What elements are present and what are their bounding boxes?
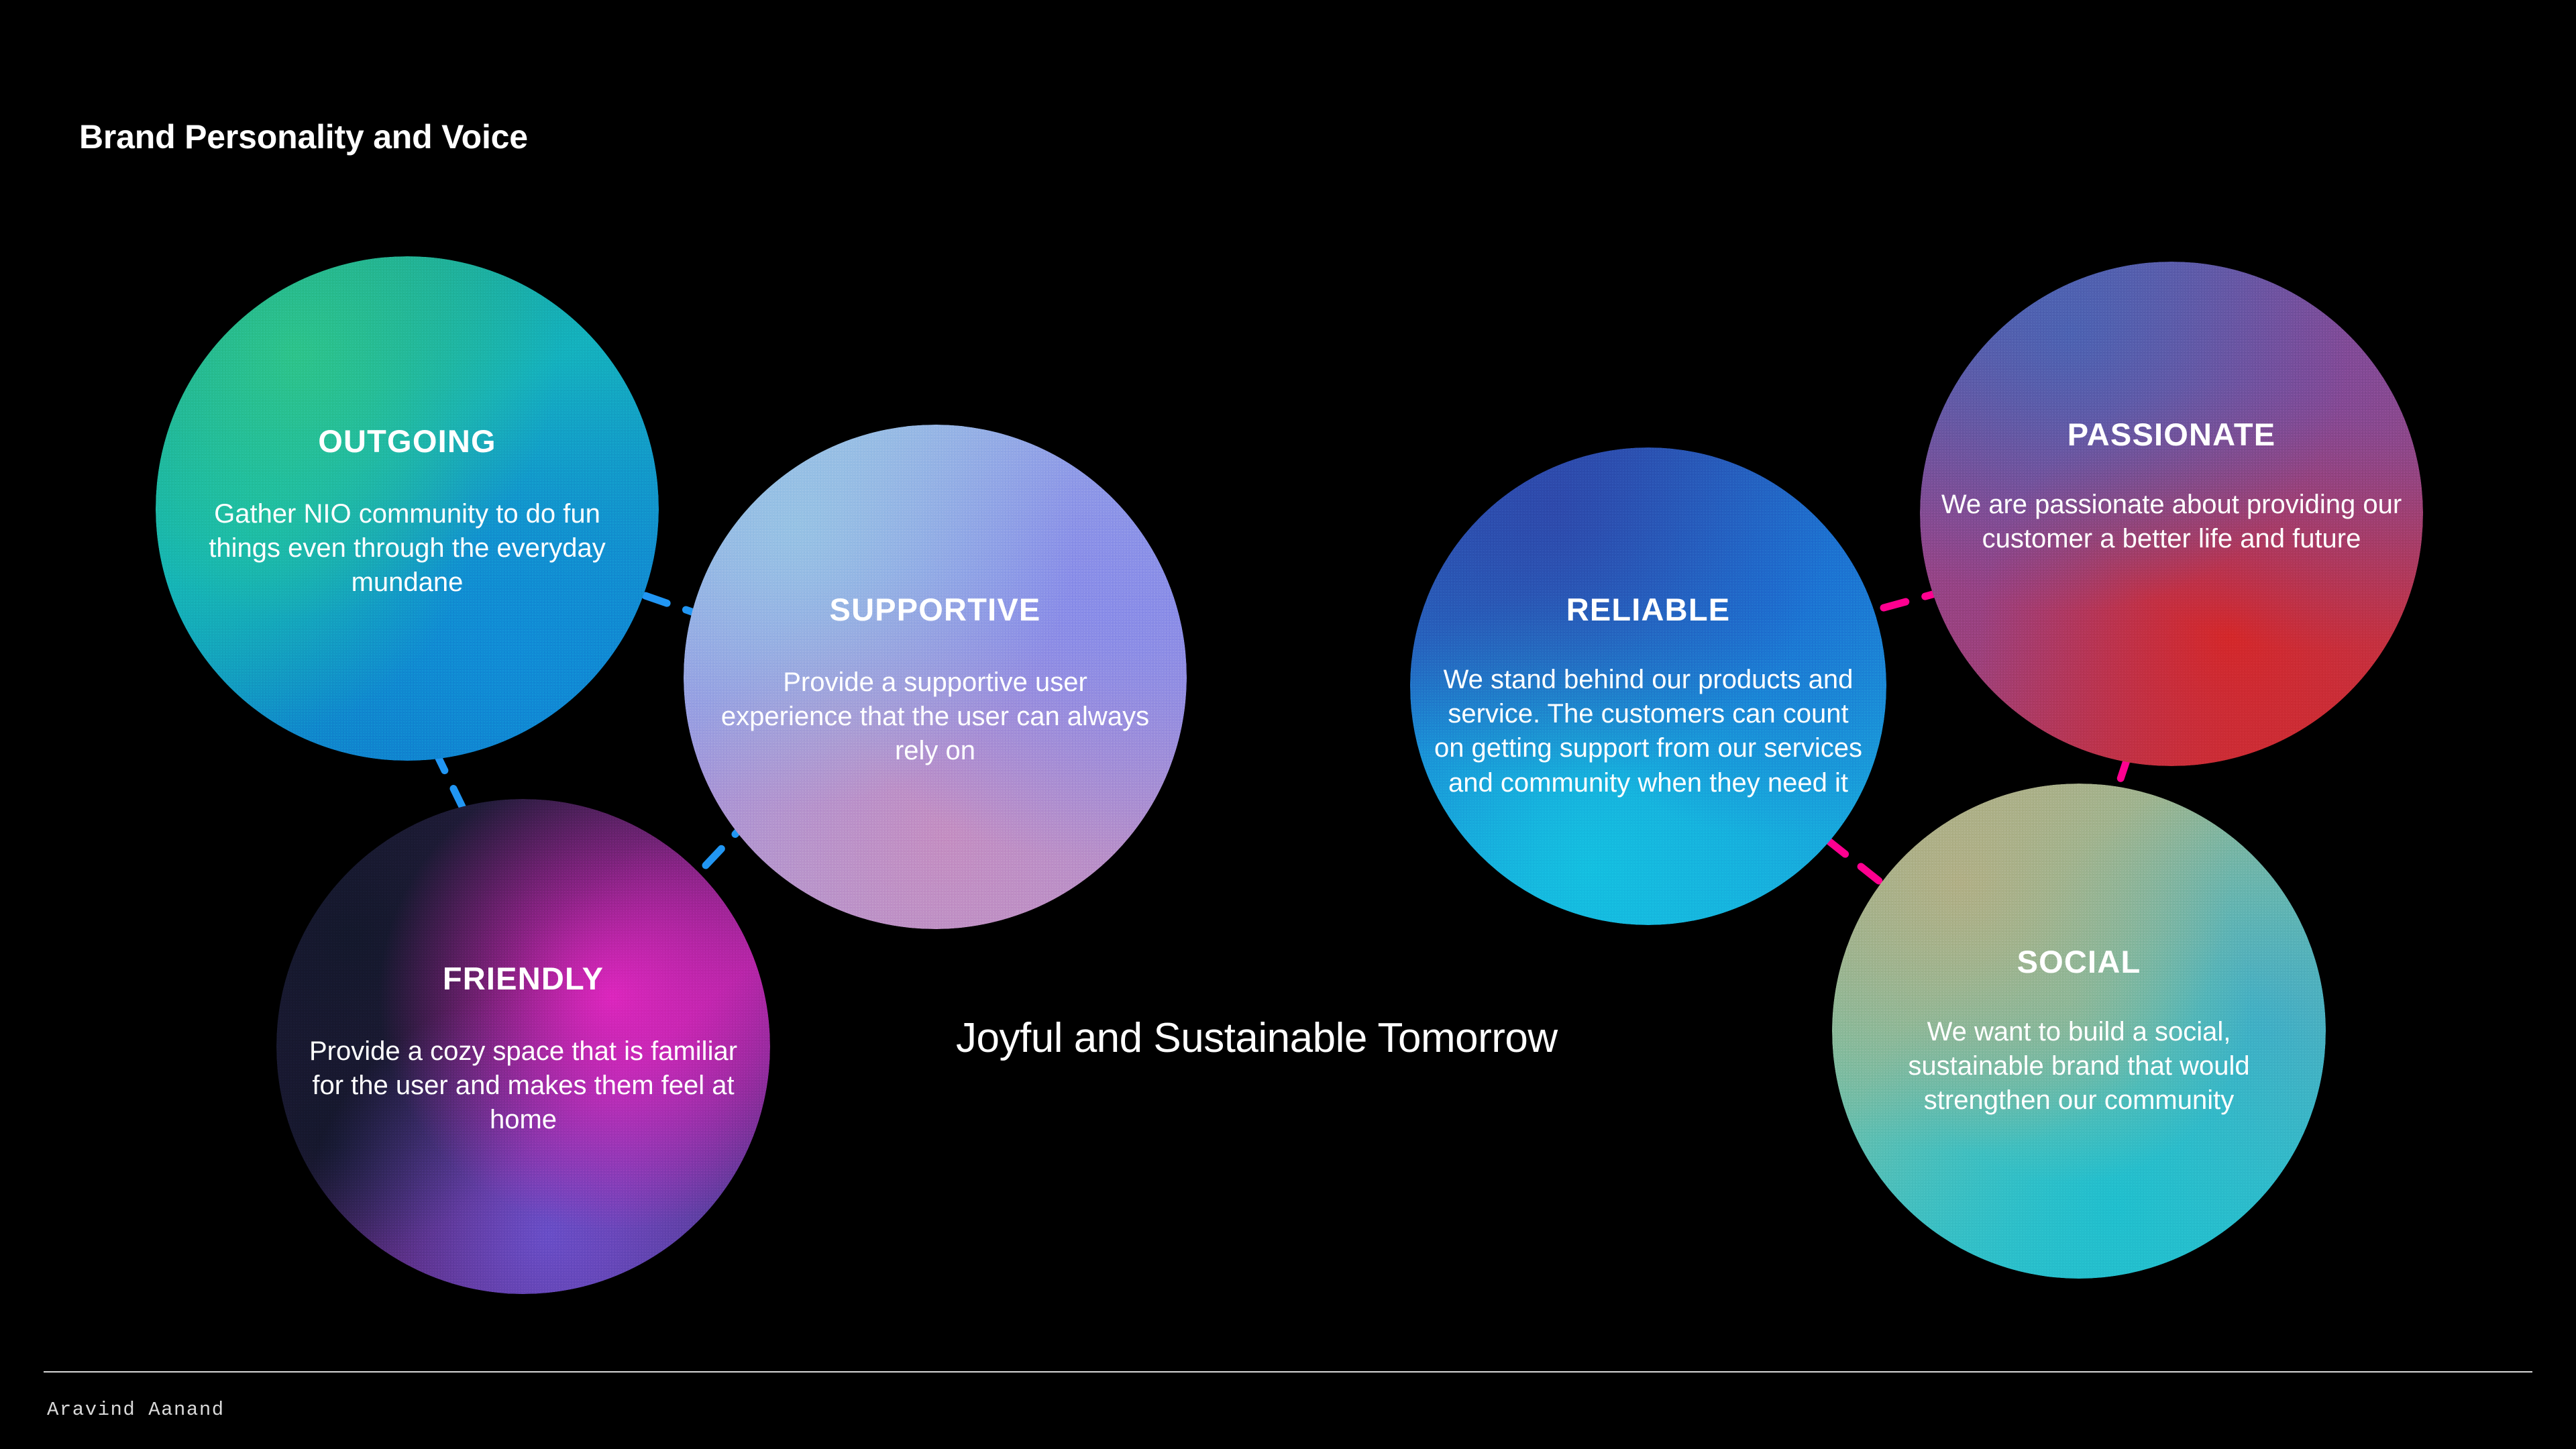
bubble-friendly-body: Provide a cozy space that is familiar fo… [295,1034,751,1138]
bubble-outgoing[interactable]: OUTGOING Gather NIO community to do fun … [156,256,659,761]
bubble-reliable-title: RELIABLE [1566,591,1731,628]
bubble-reliable[interactable]: RELIABLE We stand behind our products an… [1410,447,1886,925]
footer-author: Aravind Aanand [47,1399,225,1421]
bubble-passionate[interactable]: PASSIONATE We are passionate about provi… [1920,262,2423,766]
bubble-social-body: We want to build a social, sustainable b… [1871,1015,2287,1118]
bubble-outgoing-body: Gather NIO community to do fun things ev… [179,497,635,600]
center-tagline: Joyful and Sustainable Tomorrow [956,1014,1558,1062]
bubble-supportive-body: Provide a supportive user experience tha… [720,665,1150,769]
bubble-outgoing-title: OUTGOING [318,423,496,460]
slide-canvas: Brand Personality and Voice OUTGOING Gat… [0,0,2576,1449]
bubble-friendly[interactable]: FRIENDLY Provide a cozy space that is fa… [276,799,770,1294]
bubble-reliable-body: We stand behind our products and service… [1430,663,1866,800]
bubble-passionate-title: PASSIONATE [2068,416,2276,453]
footer-divider [44,1371,2532,1373]
bubble-social[interactable]: SOCIAL We want to build a social, sustai… [1832,784,2326,1279]
bubble-passionate-body: We are passionate about providing our cu… [1940,488,2403,556]
bubble-supportive-title: SUPPORTIVE [830,591,1041,628]
bubble-social-title: SOCIAL [2017,943,2141,980]
bubble-friendly-title: FRIENDLY [443,960,604,997]
